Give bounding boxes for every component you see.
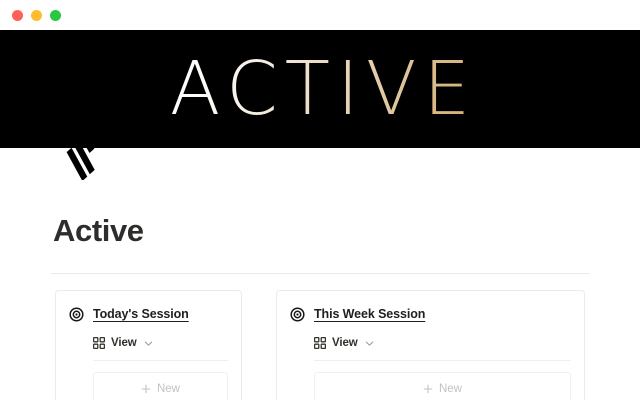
view-label: View <box>332 337 358 349</box>
new-button-label: New <box>439 383 462 395</box>
traffic-light-controls <box>12 10 61 21</box>
plus-icon <box>423 384 433 394</box>
page-title: Active <box>53 190 640 250</box>
card-title[interactable]: Today's Session <box>93 307 189 321</box>
plus-icon <box>141 384 151 394</box>
card-grid: Today's Session View <box>55 290 640 400</box>
cover-banner[interactable]: ACTIVE <box>0 30 640 148</box>
view-selector[interactable]: View <box>93 335 228 351</box>
card-rule <box>93 360 228 361</box>
chevron-down-icon <box>365 339 374 348</box>
card-header: Today's Session <box>69 305 228 323</box>
view-selector[interactable]: View <box>314 335 571 351</box>
chevron-down-icon <box>144 339 153 348</box>
card-rule <box>314 360 571 361</box>
page-content: Active Today's Session <box>0 190 640 400</box>
window-titlebar <box>0 0 640 30</box>
close-window-button[interactable] <box>12 10 23 21</box>
card-todays-session[interactable]: Today's Session View <box>55 290 242 400</box>
card-this-week-session[interactable]: This Week Session View <box>276 290 585 400</box>
app-window: ACTIVE Active Tod <box>0 0 640 400</box>
grid-icon <box>93 337 105 349</box>
grid-icon <box>314 337 326 349</box>
eye-icon <box>69 307 84 322</box>
new-button[interactable]: New <box>314 372 571 400</box>
new-button-label: New <box>157 383 180 395</box>
maximize-window-button[interactable] <box>50 10 61 21</box>
title-divider <box>51 273 590 274</box>
card-header: This Week Session <box>290 305 571 323</box>
minimize-window-button[interactable] <box>31 10 42 21</box>
cover-banner-word: ACTIVE <box>163 52 477 126</box>
card-title[interactable]: This Week Session <box>314 307 425 321</box>
eye-icon <box>290 307 305 322</box>
slanted-bars-logo-icon[interactable] <box>62 136 106 180</box>
new-button[interactable]: New <box>93 372 228 400</box>
view-label: View <box>111 337 137 349</box>
